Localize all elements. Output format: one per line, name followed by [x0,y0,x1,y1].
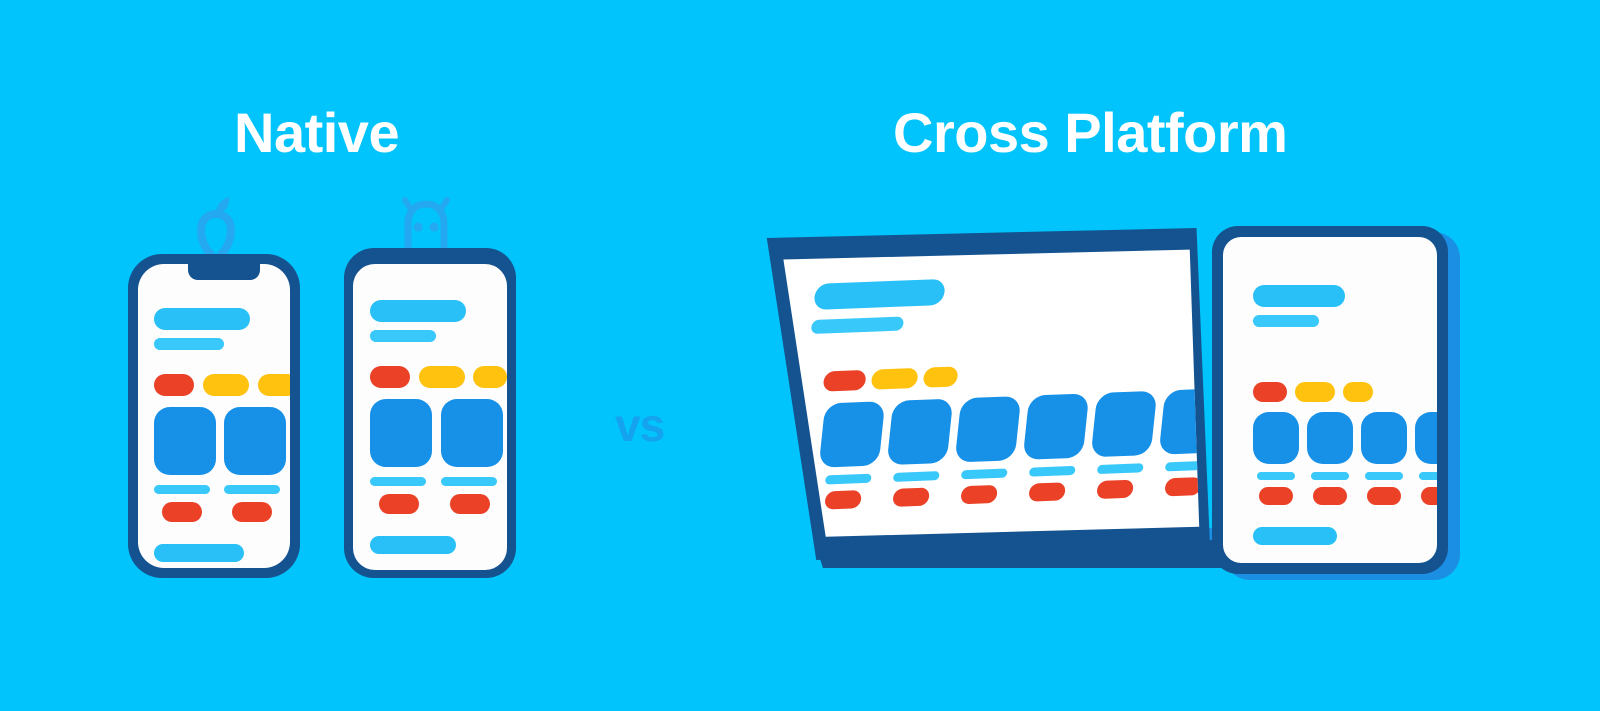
content-card[interactable] [1023,393,1090,460]
footer-bar[interactable] [1253,527,1337,545]
card-caption [893,471,940,482]
tag-pill-red[interactable] [823,370,867,392]
page-title-native: Native [234,105,399,161]
content-card[interactable] [1361,412,1407,464]
iphone-notch [188,264,260,280]
content-card[interactable] [370,399,432,467]
tag-pill-red[interactable] [370,366,410,388]
device-iphone[interactable] [128,254,300,578]
card-action-button[interactable] [892,487,930,506]
card-caption [1257,472,1295,480]
content-card[interactable] [441,399,503,467]
card-action-button[interactable] [1096,480,1134,499]
tag-pill-yellow[interactable] [1343,382,1373,402]
card-caption [441,477,497,486]
tablet-screen [1223,237,1437,563]
card-action-button[interactable] [1313,487,1347,505]
tag-pill-yellow[interactable] [1295,382,1335,402]
card-caption [1419,472,1437,480]
subtitle-bar [154,338,224,350]
tag-pill-yellow[interactable] [419,366,465,388]
tag-pill-red[interactable] [154,374,194,396]
subtitle-bar [1253,315,1319,327]
content-card[interactable] [819,401,886,468]
tag-pill-yellow[interactable] [871,368,919,390]
laptop-screen-content [760,228,1210,560]
card-action-button[interactable] [824,490,862,509]
card-action-button[interactable] [162,502,202,522]
card-action-button[interactable] [379,494,419,514]
tag-pill-yellow[interactable] [203,374,249,396]
card-caption [1365,472,1403,480]
title-bar [1253,285,1345,307]
footer-bar[interactable] [370,536,456,554]
page-title-cross-platform: Cross Platform [893,105,1287,161]
card-caption [1097,463,1144,474]
footer-bar[interactable] [154,544,244,562]
card-caption [961,468,1008,479]
card-caption [370,477,426,486]
content-card[interactable] [955,396,1022,463]
tag-pill-yellow[interactable] [923,366,959,387]
card-action-button[interactable] [232,502,272,522]
iphone-screen [138,264,290,568]
android-screen [353,264,507,570]
card-caption [224,485,280,494]
card-action-button[interactable] [1028,482,1066,501]
device-laptop[interactable] [760,228,1280,580]
tag-pill-red[interactable] [1253,382,1287,402]
card-caption [1029,466,1076,477]
illustration-canvas: Native Cross Platform vs [0,0,1600,711]
content-card[interactable] [1091,391,1158,458]
content-card[interactable] [887,399,954,466]
subtitle-bar [370,330,436,342]
card-caption [825,474,872,485]
title-bar [813,279,946,310]
laptop-screen [760,228,1210,560]
title-bar [154,308,250,330]
device-tablet[interactable] [1212,226,1448,574]
card-caption [154,485,210,494]
device-android-phone[interactable] [344,248,516,578]
versus-label: vs [615,402,664,448]
card-action-button[interactable] [1367,487,1401,505]
subtitle-bar [811,316,904,334]
tag-pill-yellow[interactable] [473,366,507,388]
card-caption [1311,472,1349,480]
content-card[interactable] [224,407,286,475]
card-action-button[interactable] [1259,487,1293,505]
card-action-button[interactable] [450,494,490,514]
content-card[interactable] [1253,412,1299,464]
content-card[interactable] [1307,412,1353,464]
tag-pill-yellow[interactable] [258,374,290,396]
content-card[interactable] [154,407,216,475]
card-action-button[interactable] [1421,487,1437,505]
title-bar [370,300,466,322]
card-action-button[interactable] [960,485,998,504]
card-action-button[interactable] [1164,477,1202,496]
content-card[interactable] [1415,412,1437,464]
